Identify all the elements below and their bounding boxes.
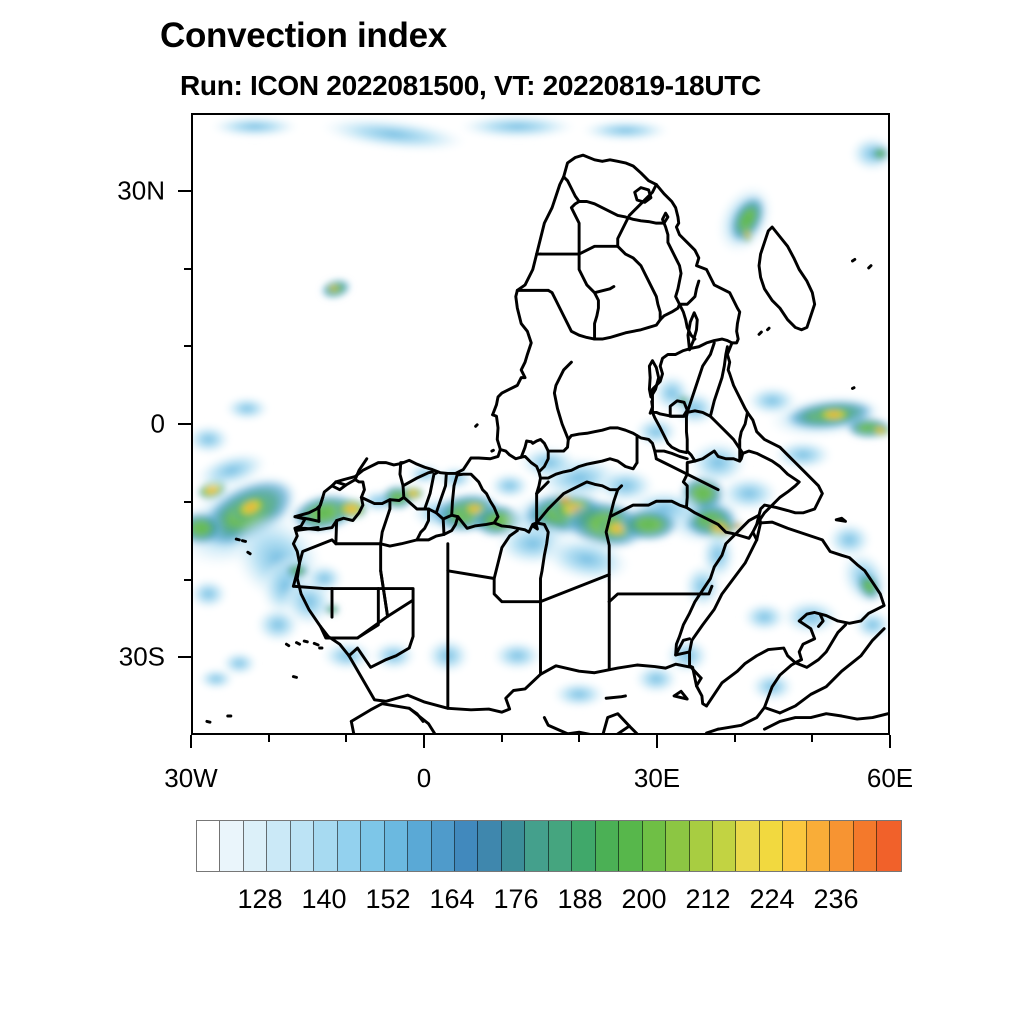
colorbar-cell [830,821,853,871]
colorbar-tick-label: 152 [365,884,410,915]
x-tick-major [656,735,658,748]
colorbar-cell [736,821,759,871]
x-axis-label: 60E [867,763,913,794]
x-tick-minor [345,735,347,742]
colorbar-cell [502,821,525,871]
colorbar-tick-label: 212 [685,884,730,915]
colorbar-cell [807,821,830,871]
colorbar-cell [220,821,243,871]
colorbar-cell [478,821,501,871]
colorbar-cell [267,821,290,871]
y-axis-label: 30S [0,642,165,673]
y-axis-label: 0 [0,409,165,440]
colorbar-cell [690,821,713,871]
y-tick-minor [184,345,191,347]
colorbar-tick-label: 200 [621,884,666,915]
x-tick-major [190,735,192,748]
colorbar-cell [361,821,384,871]
colorbar-cell [596,821,619,871]
colorbar-cell [666,821,689,871]
y-tick-minor [184,579,191,581]
colorbar-cell [338,821,361,871]
colorbar-cell [760,821,783,871]
colorbar-cell [549,821,572,871]
map-plot-area[interactable] [191,113,890,735]
colorbar-cell [244,821,267,871]
colorbar-cell [877,821,900,871]
x-tick-minor [811,735,813,742]
colorbar-cell [197,821,220,871]
colorbar-cell [314,821,337,871]
y-tick-minor [184,501,191,503]
colorbar-cell [385,821,408,871]
x-tick-major [423,735,425,748]
x-axis-label: 0 [417,763,431,794]
colorbar-cell [432,821,455,871]
x-axis-label: 30W [164,763,217,794]
y-tick-minor [184,268,191,270]
x-tick-minor [578,735,580,742]
colorbar-cell [455,821,478,871]
y-axis-label: 30N [0,175,165,206]
colorbar-cell [408,821,431,871]
colorbar-cell [854,821,877,871]
colorbar-tick-label: 140 [301,884,346,915]
y-tick-major [178,423,191,425]
colorbar-tick-label: 188 [557,884,602,915]
y-tick-major [178,656,191,658]
colorbar-cell [783,821,806,871]
page-title: Convection index [160,16,447,56]
colorbar-cell [643,821,666,871]
colorbar-cell [572,821,595,871]
colorbar-tick-label: 128 [237,884,282,915]
colorbar-cell [619,821,642,871]
run-valid-time-subtitle: Run: ICON 2022081500, VT: 20220819-18UTC [180,70,761,102]
x-tick-minor [268,735,270,742]
colorbar-cell [291,821,314,871]
x-tick-minor [734,735,736,742]
colorbar-tick-label: 164 [429,884,474,915]
colorbar[interactable] [196,820,902,872]
colorbar-tick-label: 176 [493,884,538,915]
x-axis-label: 30E [634,763,680,794]
map-canvas [193,115,888,733]
convection-index-figure: Convection index Run: ICON 2022081500, V… [0,0,1024,1024]
y-tick-major [178,190,191,192]
x-tick-minor [501,735,503,742]
colorbar-tick-label: 224 [749,884,794,915]
colorbar-cell [525,821,548,871]
x-tick-major [889,735,891,748]
colorbar-cell [713,821,736,871]
colorbar-tick-label: 236 [813,884,858,915]
